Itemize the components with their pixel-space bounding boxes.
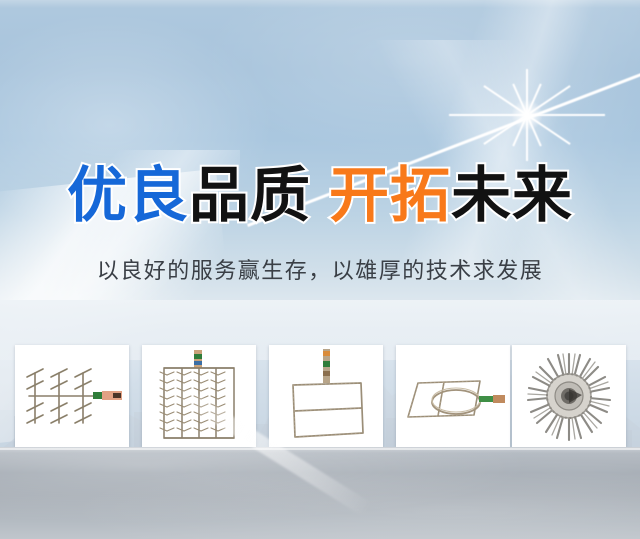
headline: 优良品质开拓未来 (0, 163, 640, 229)
promo-banner: 优良品质开拓未来 以良好的服务赢生存，以雄厚的技术求发展 (0, 0, 640, 539)
headline-part-4: 未来 (451, 162, 573, 229)
ground-surface (0, 447, 640, 539)
headline-part-1: 优良 (67, 162, 189, 229)
product-card-5[interactable] (512, 345, 626, 447)
rack-frame-ring-icon (396, 345, 510, 447)
headline-part-3: 开拓 (329, 162, 451, 229)
flare-core-glow (511, 99, 543, 131)
ground-sheen (0, 447, 640, 539)
product-card-3[interactable] (269, 345, 383, 447)
rack-frame-two-bar-icon (269, 345, 383, 447)
rack-horizontal-comb-icon (15, 345, 129, 447)
product-card-1[interactable] (15, 345, 129, 447)
headline-part-2: 品质 (189, 162, 311, 229)
product-thumbnail-row (0, 345, 640, 449)
rack-radial-sunburst-icon (512, 345, 626, 447)
subheadline: 以良好的服务赢生存，以雄厚的技术求发展 (0, 256, 640, 286)
product-card-4[interactable] (396, 345, 510, 447)
